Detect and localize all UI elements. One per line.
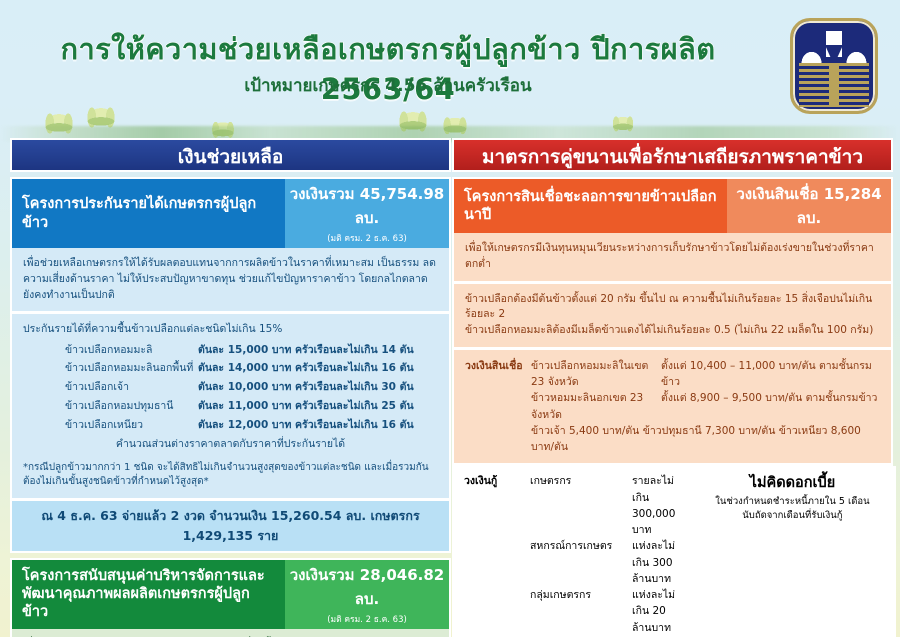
- program-details: ประกันรายได้ที่ความชื้นข้าวเปลือกแต่ละชน…: [12, 314, 449, 497]
- credit-line-value: ตั้งแต่ 10,400 – 11,000 บาท/ตัน ตามชั้นก…: [661, 358, 880, 391]
- rice-price: ตันละ 10,000 บาท ครัวเรือนละไม่เกิน 30 ต…: [198, 379, 438, 398]
- table-row: ข้าวเปลือกเจ้า ตันละ 10,000 บาท ครัวเรือ…: [23, 379, 438, 398]
- budget-amount: วงเงินรวม 28,046.82 ลบ.: [289, 563, 445, 611]
- rice-name: ข้าวเปลือกเหนียว: [23, 416, 198, 435]
- no-interest-line-1: ในช่วงกำหนดชำระหนี้ภายใน 5 เดือน: [698, 495, 886, 509]
- budget-note: (มติ ครม. 2 ธ.ค. 63): [327, 612, 407, 626]
- loan-amount: แห่งละไม่เกิน 20 ล้านบาท: [632, 587, 675, 636]
- left-column-banner: เงินช่วยเหลือ: [10, 138, 451, 172]
- credit-values: ข้าวเปลือกหอมมะลิในเขต 23 จังหวัด ตั้งแต…: [531, 358, 880, 456]
- rice-price: ตันละ 12,000 บาท ครัวเรือนละไม่เกิน 16 ต…: [198, 416, 438, 435]
- rice-name: ข้าวเปลือกหอมปทุมธานี: [23, 397, 198, 416]
- loan-label: วงเงินกู้: [464, 473, 530, 637]
- page-subtitle: เป้าหมายเกษตรกร 4.56 ล้านครัวเรือน: [28, 72, 748, 99]
- program-budget: วงเงินรวม 28,046.82 ลบ. (มติ ครม. 2 ธ.ค.…: [285, 560, 449, 629]
- program-purpose: เพื่อบรรเทาความเดือดร้อนจากการต้นทุนการผ…: [12, 629, 449, 637]
- loan-line: สหกรณ์การเกษตร แห่งละไม่เกิน 300 ล้านบาท: [530, 538, 675, 587]
- no-interest-box: ไม่คิดดอกเบี้ย ในช่วงกำหนดชำระหนี้ภายใน …: [688, 466, 896, 637]
- credit-line: ข้าวหอมมะลินอกเขต 23 จังหวัด ตั้งแต่ 8,9…: [531, 390, 880, 423]
- right-column: มาตรการคู่ขนานเพื่อรักษาเสถียรภาพราคาข้า…: [452, 138, 893, 637]
- rice-price: ตันละ 11,000 บาท ครัวเรือนละไม่เกิน 25 ต…: [198, 397, 438, 416]
- rice-price-table: ข้าวเปลือกหอมมะลิ ตันละ 15,000 บาท ครัวเ…: [23, 341, 438, 435]
- program-payout-status: ณ 4 ธ.ค. 63 จ่ายแล้ว 2 งวด จำนวนเงิน 15,…: [12, 501, 449, 551]
- table-row: ข้าวเปลือกหอมมะลินอกพื้นที่ ตันละ 14,000…: [23, 360, 438, 379]
- credit-line-value: ตั้งแต่ 8,900 – 9,500 บาท/ตัน ตามชั้นกรม…: [661, 390, 880, 423]
- credit-line: ข้าวเปลือกหอมมะลิในเขต 23 จังหวัด ตั้งแต…: [531, 358, 880, 391]
- right-column-banner: มาตรการคู่ขนานเพื่อรักษาเสถียรภาพราคาข้า…: [452, 138, 893, 172]
- program-title: โครงการสินเชื่อชะลอการขายข้าวเปลือกนาปี: [454, 179, 727, 233]
- left-column: เงินช่วยเหลือ โครงการประกันรายได้เกษตรกร…: [10, 138, 451, 637]
- rice-price: ตันละ 15,000 บาท ครัวเรือนละไม่เกิน 14 ต…: [198, 341, 438, 360]
- program-card-income-guarantee: โครงการประกันรายได้เกษตรกรผู้ปลูกข้าว วง…: [10, 177, 451, 553]
- budget-amount: วงเงินรวม 45,754.98 ลบ.: [289, 182, 445, 230]
- program-card-management-support: โครงการสนับสนุนค่าบริหารจัดการและพัฒนาคุ…: [10, 558, 451, 637]
- baac-logo-icon: [790, 18, 878, 114]
- infographic-page: การให้ความช่วยเหลือเกษตรกรผู้ปลูกข้าว ปี…: [0, 0, 900, 637]
- logo-lower-glyph: [799, 63, 869, 107]
- program-title: โครงการสนับสนุนค่าบริหารจัดการและพัฒนาคุ…: [12, 560, 285, 629]
- borrower-type: เกษตรกร: [530, 473, 622, 538]
- program-header: โครงการสนับสนุนค่าบริหารจัดการและพัฒนาคุ…: [12, 560, 449, 629]
- no-interest-title: ไม่คิดดอกเบี้ย: [698, 473, 886, 495]
- calculation-note: คำนวณส่วนต่างราคาตลาดกับราคาที่ประกันราย…: [23, 437, 438, 453]
- loan-row: วงเงินกู้ เกษตรกร รายละไม่เกิน 300,000 บ…: [464, 473, 675, 637]
- program-header: โครงการสินเชื่อชะลอการขายข้าวเปลือกนาปี …: [454, 179, 891, 233]
- borrower-type: กลุ่มเกษตรกร: [530, 587, 622, 636]
- no-interest-line-2: นับถัดจากเดือนที่รับเงินกู้: [698, 509, 886, 523]
- multi-variety-note: *กรณีปลูกข้าวมากกว่า 1 ชนิด จะได้สิทธิไม…: [23, 461, 438, 490]
- borrower-type: สหกรณ์การเกษตร: [530, 538, 622, 587]
- table-row: ข้าวเปลือกเหนียว ตันละ 12,000 บาท ครัวเร…: [23, 416, 438, 435]
- program-header: โครงการประกันรายได้เกษตรกรผู้ปลูกข้าว วง…: [12, 179, 449, 248]
- budget-amount: วงเงินสินเชื่อ 15,284 ลบ.: [731, 182, 887, 230]
- loan-line: เกษตรกร รายละไม่เกิน 300,000 บาท: [530, 473, 675, 538]
- credit-label: วงเงินสินเชื่อ: [465, 358, 531, 456]
- credit-line-other: ข้าวเจ้า 5,400 บาท/ตัน ข้าวปทุมธานี 7,30…: [531, 423, 880, 456]
- quality-line-1: ข้าวเปลือกต้องมีต้นข้าวตั้งแต่ 20 กรัม ข…: [465, 292, 880, 324]
- budget-note: (มติ ครม. 2 ธ.ค. 63): [327, 231, 407, 245]
- program-purpose: เพื่อช่วยเหลือเกษตรกรให้ได้รับผลตอบแทนจา…: [12, 248, 449, 311]
- rice-name: ข้าวเปลือกเจ้า: [23, 379, 198, 398]
- quality-line-2: ข้าวเปลือกหอมมะลิต้องมีเมล็ดข้าวแดงได้ไม…: [465, 323, 880, 339]
- rice-name: ข้าวเปลือกหอมมะลินอกพื้นที่: [23, 360, 198, 379]
- credit-line-label: ข้าวเปลือกหอมมะลิในเขต 23 จังหวัด: [531, 358, 651, 391]
- credit-line-label: ข้าวหอมมะลินอกเขต 23 จังหวัด: [531, 390, 651, 423]
- table-row: ข้าวเปลือกหอมปทุมธานี ตันละ 11,000 บาท ค…: [23, 397, 438, 416]
- page-header: การให้ความช่วยเหลือเกษตรกรผู้ปลูกข้าว ปี…: [0, 0, 900, 110]
- quality-requirements: ข้าวเปลือกต้องมีต้นข้าวตั้งแต่ 20 กรัม ข…: [454, 284, 891, 347]
- program-budget: วงเงินรวม 45,754.98 ลบ. (มติ ครม. 2 ธ.ค.…: [285, 179, 449, 248]
- loan-line: กลุ่มเกษตรกร แห่งละไม่เกิน 20 ล้านบาท: [530, 587, 675, 636]
- program-purpose: เพื่อให้เกษตรกรมีเงินทุนหมุนเวียนระหว่าง…: [454, 233, 891, 281]
- program-budget: วงเงินสินเชื่อ 15,284 ลบ.: [727, 179, 891, 233]
- rice-price: ตันละ 14,000 บาท ครัวเรือนละไม่เกิน 16 ต…: [198, 360, 438, 379]
- loan-values: เกษตรกร รายละไม่เกิน 300,000 บาท สหกรณ์ก…: [530, 473, 675, 637]
- loan-amount: รายละไม่เกิน 300,000 บาท: [632, 473, 675, 538]
- credit-amounts: วงเงินสินเชื่อ ข้าวเปลือกหอมมะลิในเขต 23…: [454, 350, 891, 464]
- program-card-delay-sale-credit: โครงการสินเชื่อชะลอการขายข้าวเปลือกนาปี …: [452, 177, 893, 637]
- credit-row: วงเงินสินเชื่อ ข้าวเปลือกหอมมะลิในเขต 23…: [465, 358, 880, 456]
- loan-and-interest-split: วงเงินกู้ เกษตรกร รายละไม่เกิน 300,000 บ…: [454, 466, 891, 637]
- loan-amount: แห่งละไม่เกิน 300 ล้านบาท: [632, 538, 675, 587]
- table-row: ข้าวเปลือกหอมมะลิ ตันละ 15,000 บาท ครัวเ…: [23, 341, 438, 360]
- rice-name: ข้าวเปลือกหอมมะลิ: [23, 341, 198, 360]
- table-intro: ประกันรายได้ที่ความชื้นข้าวเปลือกแต่ละชน…: [23, 322, 438, 338]
- program-title: โครงการประกันรายได้เกษตรกรผู้ปลูกข้าว: [12, 179, 285, 248]
- loan-limits: วงเงินกู้ เกษตรกร รายละไม่เกิน 300,000 บ…: [454, 466, 685, 637]
